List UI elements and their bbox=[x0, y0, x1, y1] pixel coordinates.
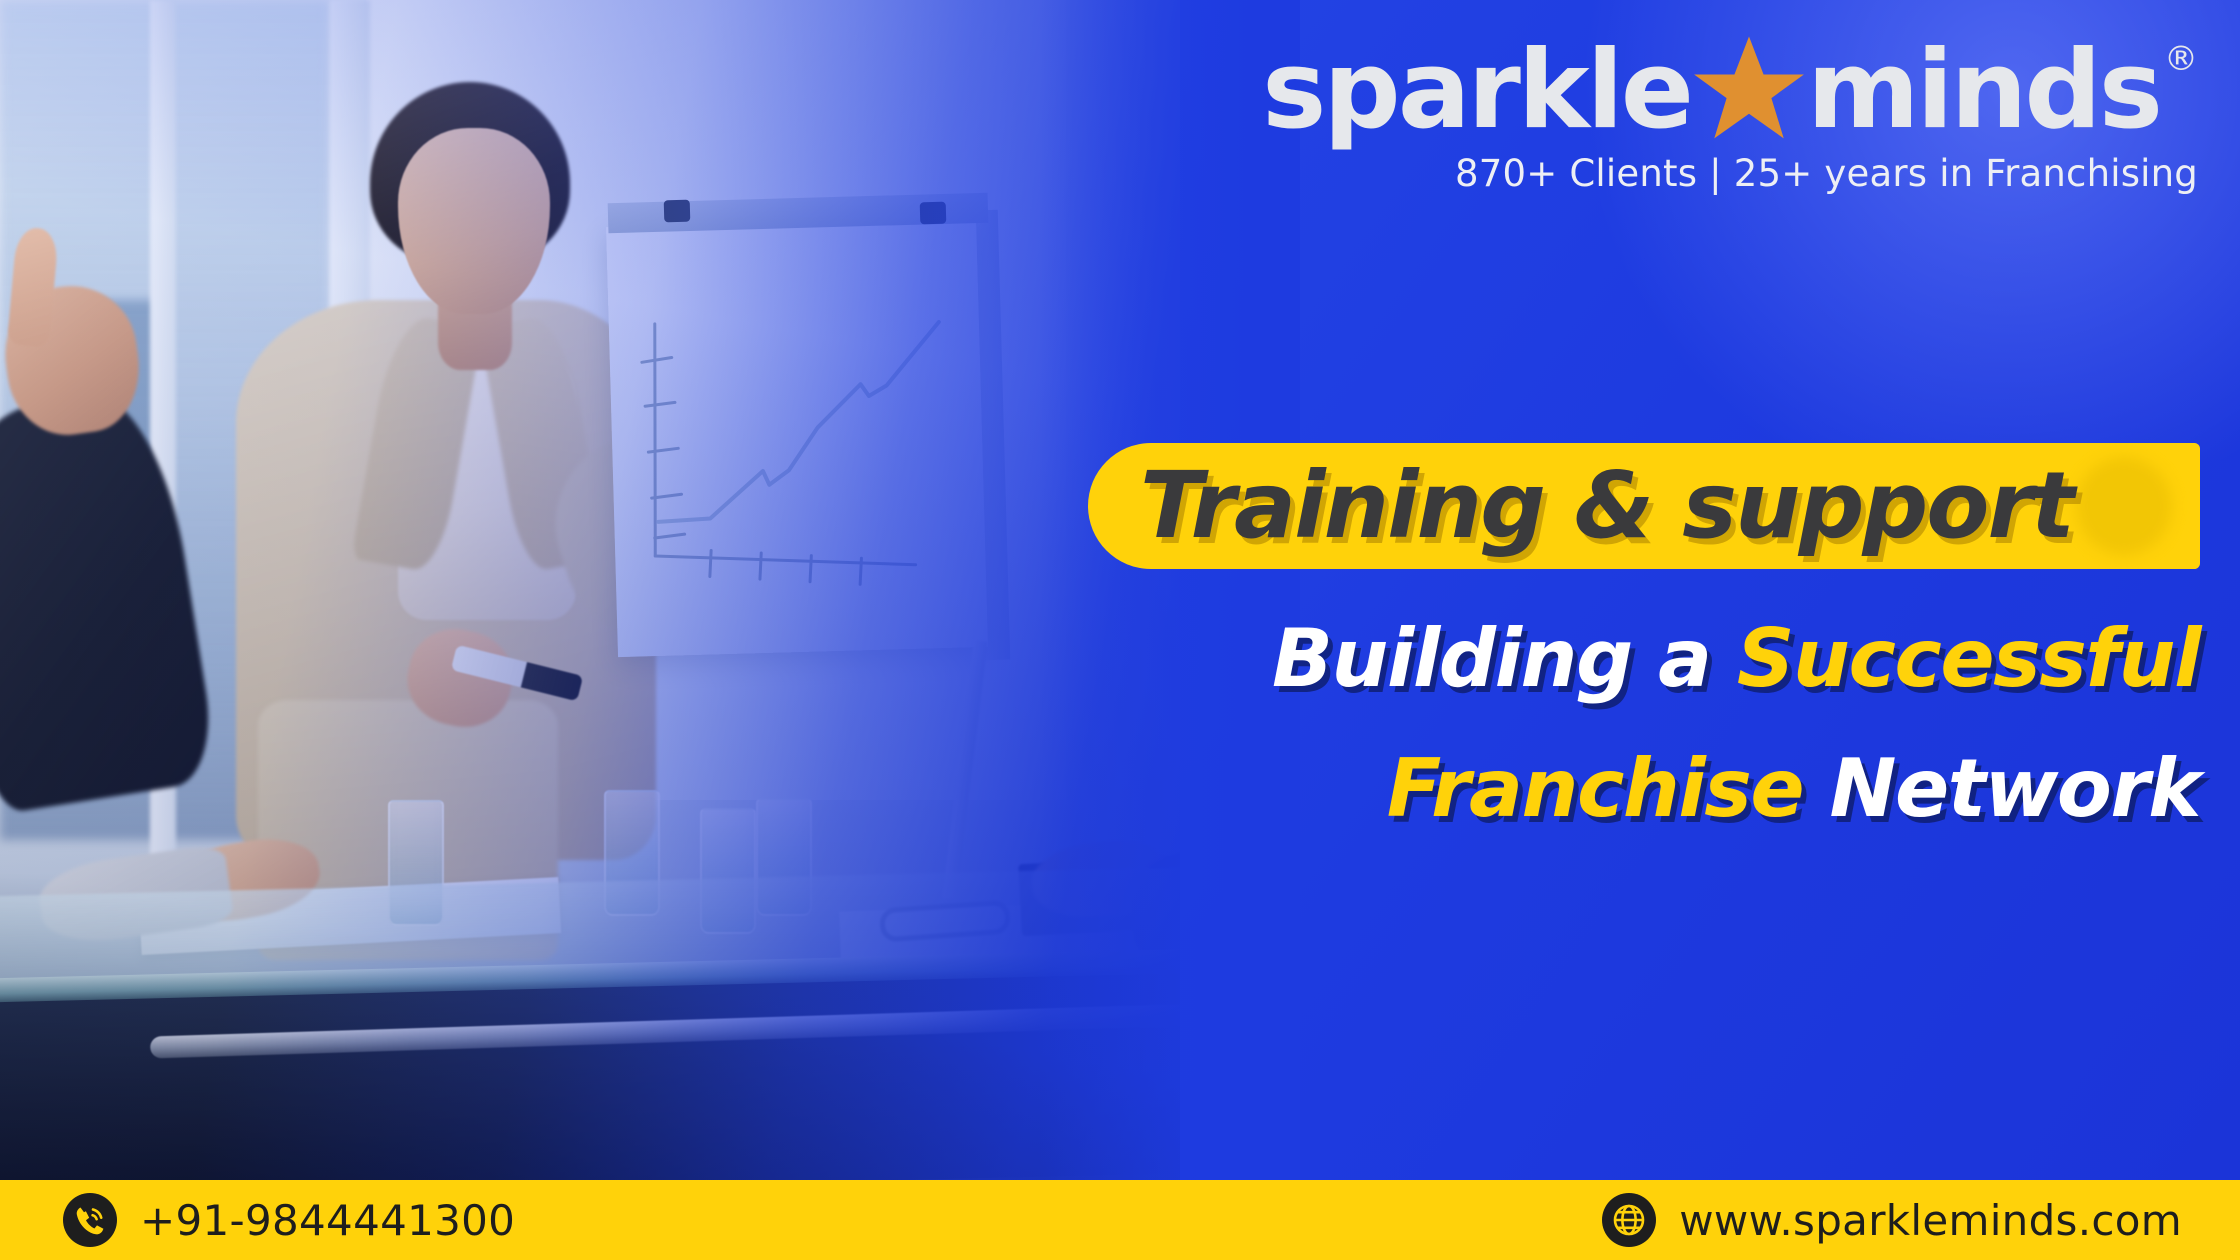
contact-footer-bar: +91-9844441300 www.sparkleminds.com bbox=[0, 1180, 2240, 1260]
logo-word-minds: minds bbox=[1807, 37, 2160, 145]
subheadline-line-1: Building a Successful bbox=[1272, 612, 2200, 705]
phone-contact[interactable]: +91-9844441300 bbox=[62, 1192, 515, 1248]
phone-icon bbox=[62, 1192, 118, 1248]
marketing-banner: sparkle minds ® 870+ Clients | 25+ years… bbox=[0, 0, 2240, 1260]
star-icon bbox=[1693, 34, 1805, 142]
registered-trademark-icon: ® bbox=[2164, 42, 2198, 76]
subheadline-line-1-white: Building a bbox=[1272, 612, 1711, 705]
logo-wordmark: sparkle minds ® bbox=[1262, 34, 2198, 148]
brand-logo[interactable]: sparkle minds ® 870+ Clients | 25+ years… bbox=[1262, 34, 2198, 195]
subheadline-line-2: Franchise Network bbox=[1387, 742, 2200, 835]
logo-word-sparkle: sparkle bbox=[1262, 37, 1691, 145]
blue-blend-edge bbox=[1040, 0, 1300, 1180]
globe-icon bbox=[1601, 1192, 1657, 1248]
headline-pill-label: Training & support bbox=[1140, 452, 2240, 559]
subheadline-line-2-yellow: Franchise bbox=[1387, 742, 1803, 835]
phone-number: +91-9844441300 bbox=[140, 1196, 515, 1245]
brand-tagline: 870+ Clients | 25+ years in Franchising bbox=[1262, 152, 2198, 195]
website-url: www.sparkleminds.com bbox=[1679, 1196, 2182, 1245]
website-contact[interactable]: www.sparkleminds.com bbox=[1601, 1192, 2182, 1248]
subheadline-line-1-yellow: Successful bbox=[1737, 612, 2200, 705]
subheadline-line-2-white: Network bbox=[1830, 742, 2200, 835]
